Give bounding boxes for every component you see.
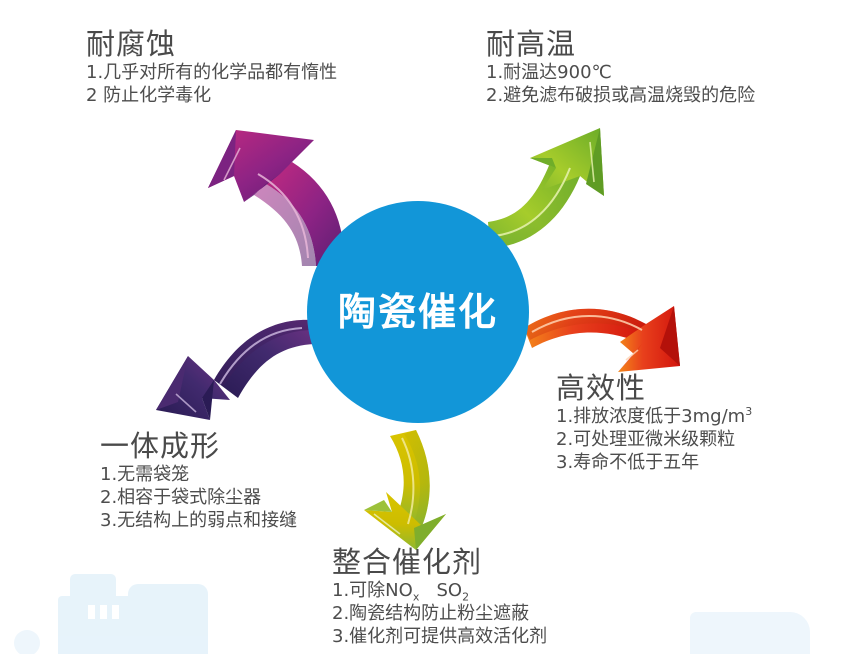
list-item-text-mid: SO — [419, 580, 462, 601]
list-item: 2 防止化学毒化 — [86, 85, 337, 108]
center-node[interactable]: 陶瓷催化 — [307, 201, 529, 423]
feature-title-heat-resistance: 耐高温 — [486, 28, 755, 60]
watermark-stack-2 — [100, 605, 107, 619]
yellow-arrow — [356, 428, 476, 552]
list-item: 2.陶瓷结构防止粉尘遮蔽 — [332, 603, 547, 626]
feature-title-integrated-catalyst: 整合催化剂 — [332, 546, 547, 578]
list-item: 2.相容于袋式除尘器 — [100, 487, 297, 510]
list-item: 1.无需袋笼 — [100, 464, 297, 487]
list-item: 2.避免滤布破损或高温烧毁的危险 — [486, 85, 755, 108]
feature-list-heat-resistance: 1.耐温达900℃ 2.避免滤布破损或高温烧毁的危险 — [486, 62, 755, 107]
feature-title-monolithic: 一体成形 — [100, 430, 297, 462]
list-item: 1.几乎对所有的化学品都有惰性 — [86, 62, 337, 85]
superscript-3: 3 — [745, 405, 752, 418]
list-item: 2.可处理亚微米级颗粒 — [556, 429, 752, 452]
feature-block-corrosion: 耐腐蚀 1.几乎对所有的化学品都有惰性 2 防止化学毒化 — [86, 28, 337, 108]
watermark-stack-1 — [88, 605, 95, 619]
feature-list-monolithic: 1.无需袋笼 2.相容于袋式除尘器 3.无结构上的弱点和接缝 — [100, 464, 297, 532]
feature-block-heat-resistance: 耐高温 1.耐温达900℃ 2.避免滤布破损或高温烧毁的危险 — [486, 28, 755, 108]
list-item: 1.排放浓度低于3mg/m3 — [556, 406, 752, 429]
list-item-text: 1.可除NO — [332, 580, 413, 601]
list-item: 1.耐温达900℃ — [486, 62, 755, 85]
list-item: 3.寿命不低于五年 — [556, 452, 752, 475]
watermark-blob — [14, 630, 40, 654]
feature-list-integrated-catalyst: 1.可除NOx SO2 2.陶瓷结构防止粉尘遮蔽 3.催化剂可提供高效活化剂 — [332, 580, 547, 648]
watermark-factory-icon — [58, 596, 208, 654]
feature-block-integrated-catalyst: 整合催化剂 1.可除NOx SO2 2.陶瓷结构防止粉尘遮蔽 3.催化剂可提供高… — [332, 546, 547, 648]
orange-red-arrow — [522, 298, 682, 382]
feature-block-efficiency: 高效性 1.排放浓度低于3mg/m3 2.可处理亚微米级颗粒 3.寿命不低于五年 — [556, 372, 752, 474]
list-item: 3.无结构上的弱点和接缝 — [100, 510, 297, 533]
feature-block-monolithic: 一体成形 1.无需袋笼 2.相容于袋式除尘器 3.无结构上的弱点和接缝 — [100, 430, 297, 532]
list-item: 3.催化剂可提供高效活化剂 — [332, 626, 547, 649]
watermark-stack-3 — [112, 605, 119, 619]
subscript-2: 2 — [462, 591, 469, 604]
feature-title-efficiency: 高效性 — [556, 372, 752, 404]
dark-purple-arrow — [152, 306, 316, 424]
center-node-label: 陶瓷催化 — [338, 293, 498, 331]
feature-list-corrosion: 1.几乎对所有的化学品都有惰性 2 防止化学毒化 — [86, 62, 337, 107]
feature-title-corrosion: 耐腐蚀 — [86, 28, 337, 60]
list-item-text: 1.排放浓度低于3mg/m — [556, 406, 745, 427]
watermark-right-shape — [690, 612, 810, 654]
diagram-canvas: 陶瓷催化 耐腐蚀 1.几乎对所有的化学品都有惰性 2 防止化学毒化 耐高温 1.… — [0, 0, 860, 654]
list-item: 1.可除NOx SO2 — [332, 580, 547, 603]
green-arrow — [486, 124, 656, 264]
feature-list-efficiency: 1.排放浓度低于3mg/m3 2.可处理亚微米级颗粒 3.寿命不低于五年 — [556, 406, 752, 474]
